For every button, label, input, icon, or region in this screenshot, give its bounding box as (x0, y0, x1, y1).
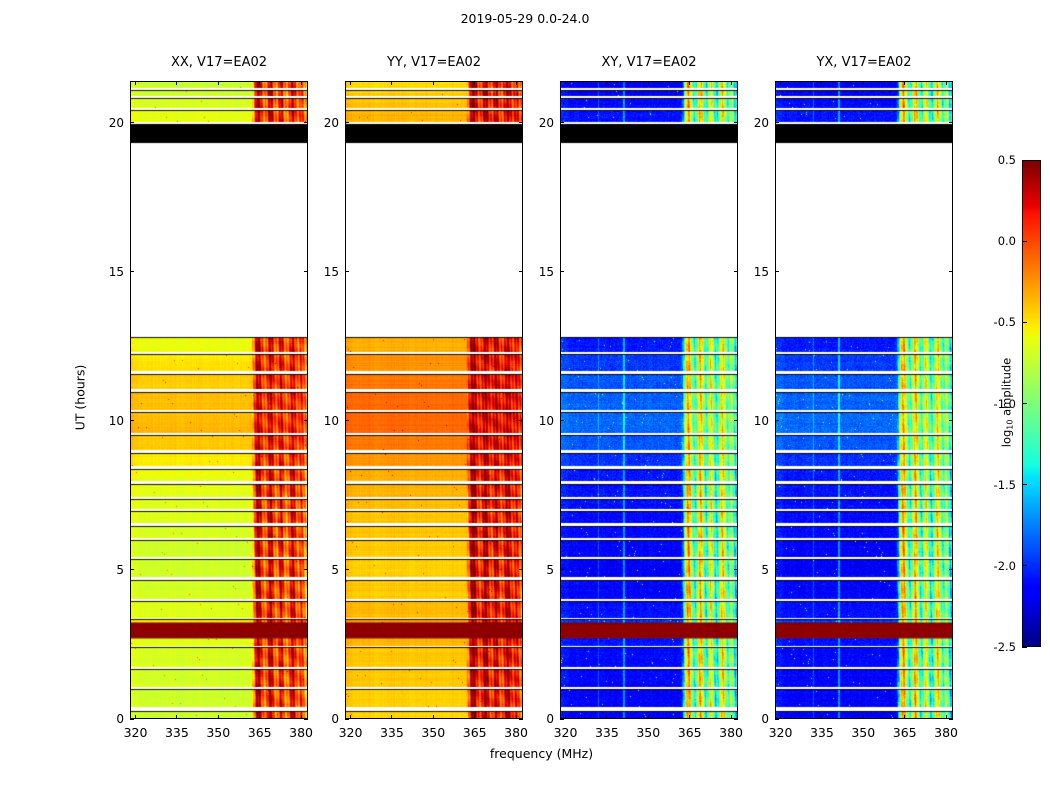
y-tick-label: 15 (518, 265, 554, 279)
x-tick-label: 350 (841, 725, 885, 740)
x-tick-mark (821, 715, 822, 719)
colorbar-tick-mark (1022, 484, 1027, 485)
x-tick-label: 335 (370, 725, 414, 740)
y-tick-mark (130, 719, 134, 720)
x-tick-mark (648, 81, 649, 85)
y-tick-label: 10 (733, 414, 769, 428)
x-tick-label: 335 (800, 725, 844, 740)
x-tick-mark (301, 81, 302, 85)
x-tick-mark (391, 715, 392, 719)
colorbar-tick-mark (1022, 322, 1027, 323)
colorbar-tick-label: -0.5 (974, 315, 1016, 329)
waterfall-panel-xx[interactable] (130, 81, 308, 719)
x-tick-mark (863, 81, 864, 85)
colorbar-tick-mark (1022, 403, 1027, 404)
x-tick-mark (946, 715, 947, 719)
x-tick-mark (433, 81, 434, 85)
x-tick-mark (474, 715, 475, 719)
y-tick-label: 5 (733, 563, 769, 577)
x-tick-label: 320 (114, 725, 158, 740)
x-tick-mark (904, 715, 905, 719)
x-tick-mark (474, 81, 475, 85)
y-tick-mark (560, 271, 564, 272)
y-tick-mark (560, 420, 564, 421)
x-tick-label: 350 (196, 725, 240, 740)
x-tick-label: 380 (494, 725, 538, 740)
x-tick-mark (565, 715, 566, 719)
y-tick-label: 20 (303, 116, 339, 130)
y-tick-label: 0 (303, 712, 339, 726)
x-tick-mark (565, 81, 566, 85)
x-tick-label: 350 (626, 725, 670, 740)
x-tick-mark (689, 715, 690, 719)
figure-canvas: 2019-05-29 0.0-24.0 XX, V17=EA02 YY, V17… (0, 0, 1050, 800)
y-tick-mark (949, 569, 953, 570)
y-tick-mark (775, 122, 779, 123)
panel-title-yx: YX, V17=EA02 (775, 55, 953, 70)
y-tick-label: 5 (303, 563, 339, 577)
x-tick-mark (391, 81, 392, 85)
colorbar-tick-mark (1022, 565, 1027, 566)
y-tick-label: 5 (518, 563, 554, 577)
colorbar-label-main: log (1000, 429, 1014, 447)
x-tick-mark (433, 715, 434, 719)
y-tick-label: 15 (303, 265, 339, 279)
x-tick-label: 335 (155, 725, 199, 740)
x-tick-mark (259, 81, 260, 85)
colorbar-tick-label: -2.5 (974, 640, 1016, 654)
y-tick-mark (345, 271, 349, 272)
y-tick-mark (949, 122, 953, 123)
panel-title-xx: XX, V17=EA02 (130, 55, 308, 70)
colorbar-tick-mark (1022, 647, 1027, 648)
y-tick-mark (130, 271, 134, 272)
colorbar-tick-label: -1.0 (974, 397, 1016, 411)
colorbar-tick-mark (1022, 241, 1027, 242)
x-tick-mark (350, 81, 351, 85)
y-tick-label: 5 (88, 563, 124, 577)
waterfall-panel-xy[interactable] (560, 81, 738, 719)
x-tick-label: 365 (668, 725, 712, 740)
x-tick-mark (218, 715, 219, 719)
y-tick-mark (560, 569, 564, 570)
y-tick-mark (130, 420, 134, 421)
y-tick-mark (775, 569, 779, 570)
y-tick-label: 20 (518, 116, 554, 130)
x-tick-label: 380 (709, 725, 753, 740)
colorbar-tick-label: 0.0 (974, 234, 1016, 248)
y-tick-mark (775, 420, 779, 421)
x-tick-mark (301, 715, 302, 719)
y-tick-label: 15 (733, 265, 769, 279)
x-tick-mark (606, 81, 607, 85)
colorbar-tick-label: -1.5 (974, 478, 1016, 492)
x-tick-label: 335 (585, 725, 629, 740)
y-tick-mark (345, 569, 349, 570)
y-tick-mark (775, 719, 779, 720)
x-tick-mark (780, 81, 781, 85)
x-tick-mark (516, 715, 517, 719)
waterfall-panel-yy[interactable] (345, 81, 523, 719)
x-tick-mark (731, 715, 732, 719)
y-tick-label: 0 (518, 712, 554, 726)
y-tick-mark (949, 420, 953, 421)
y-tick-mark (775, 271, 779, 272)
x-tick-label: 380 (924, 725, 968, 740)
x-tick-label: 380 (279, 725, 323, 740)
x-tick-label: 320 (544, 725, 588, 740)
y-tick-label: 20 (88, 116, 124, 130)
y-tick-mark (130, 122, 134, 123)
y-tick-label: 0 (733, 712, 769, 726)
y-axis-label: UT (hours) (73, 318, 88, 478)
y-tick-label: 0 (88, 712, 124, 726)
x-tick-mark (135, 715, 136, 719)
y-tick-mark (345, 420, 349, 421)
y-tick-label: 20 (733, 116, 769, 130)
x-tick-label: 365 (453, 725, 497, 740)
y-tick-mark (949, 271, 953, 272)
y-tick-label: 15 (88, 265, 124, 279)
y-tick-label: 10 (88, 414, 124, 428)
panel-title-yy: YY, V17=EA02 (345, 55, 523, 70)
y-tick-mark (345, 122, 349, 123)
colorbar-tick-label: 0.5 (974, 153, 1016, 167)
y-tick-label: 10 (303, 414, 339, 428)
x-tick-label: 320 (759, 725, 803, 740)
colorbar-tick-mark (1022, 160, 1027, 161)
x-tick-mark (218, 81, 219, 85)
x-tick-label: 365 (883, 725, 927, 740)
waterfall-panel-yx[interactable] (775, 81, 953, 719)
x-tick-mark (176, 715, 177, 719)
x-tick-mark (259, 715, 260, 719)
x-tick-label: 365 (238, 725, 282, 740)
y-tick-mark (130, 569, 134, 570)
y-tick-mark (345, 719, 349, 720)
x-tick-mark (350, 715, 351, 719)
x-tick-label: 350 (411, 725, 455, 740)
y-tick-mark (949, 719, 953, 720)
y-tick-label: 10 (518, 414, 554, 428)
colorbar-tick-label: -2.0 (974, 559, 1016, 573)
x-tick-mark (731, 81, 732, 85)
x-tick-mark (946, 81, 947, 85)
panel-title-xy: XY, V17=EA02 (560, 55, 738, 70)
x-tick-mark (863, 715, 864, 719)
x-tick-mark (821, 81, 822, 85)
x-tick-mark (606, 715, 607, 719)
x-tick-mark (904, 81, 905, 85)
figure-suptitle: 2019-05-29 0.0-24.0 (0, 11, 1050, 26)
x-tick-mark (176, 81, 177, 85)
y-tick-mark (560, 122, 564, 123)
x-axis-label: frequency (MHz) (130, 746, 953, 761)
x-tick-mark (516, 81, 517, 85)
x-tick-mark (648, 715, 649, 719)
x-tick-mark (689, 81, 690, 85)
y-tick-mark (560, 719, 564, 720)
x-tick-mark (135, 81, 136, 85)
colorbar-label-subscript: 10 (1006, 419, 1015, 429)
x-tick-mark (780, 715, 781, 719)
x-tick-label: 320 (329, 725, 373, 740)
